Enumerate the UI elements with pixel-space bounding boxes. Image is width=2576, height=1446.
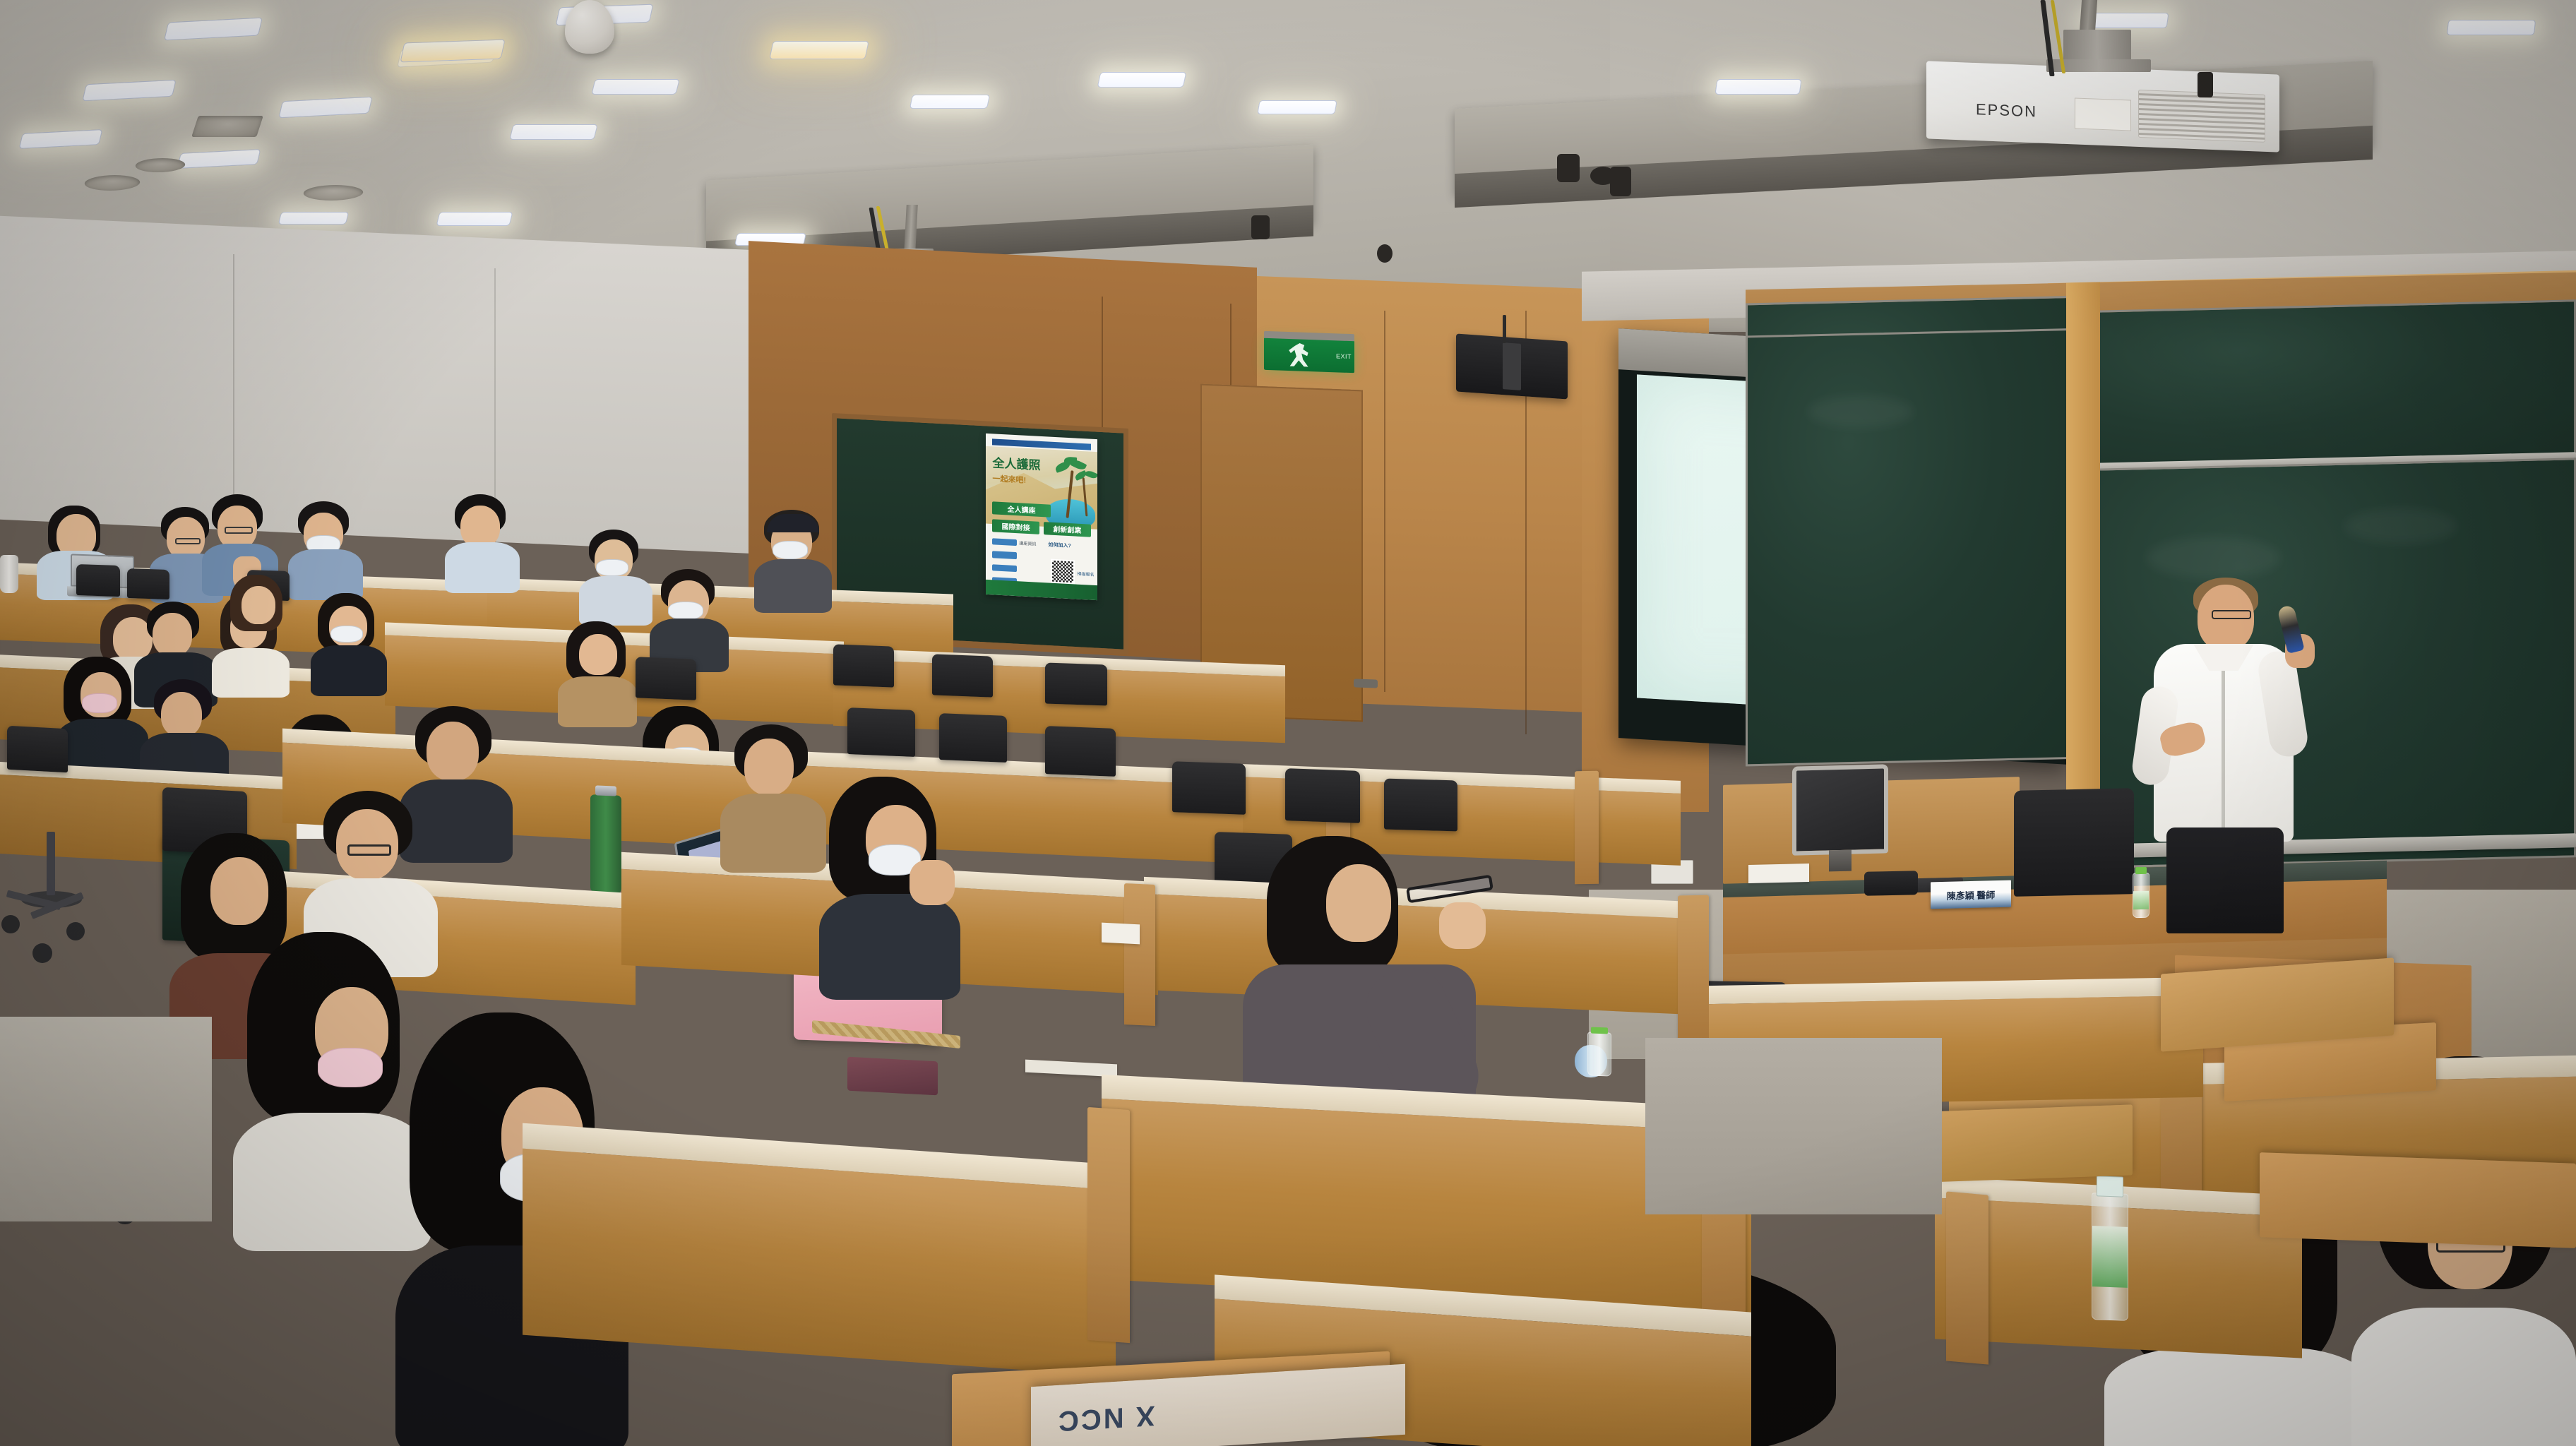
face-mask <box>773 541 808 559</box>
poster-bar-2: 國際對接 <box>992 519 1039 534</box>
wall-speaker <box>1456 333 1568 399</box>
chair-row2[interactable] <box>932 654 993 697</box>
monitor-stand <box>1829 850 1852 872</box>
bottle-label <box>2092 1226 2128 1287</box>
microphone[interactable] <box>2277 604 2304 654</box>
monitor-back-panel <box>1792 764 1888 855</box>
desk-divider <box>1946 1191 1988 1364</box>
ceiling-light <box>591 79 679 95</box>
speaker-cable <box>1503 315 1506 343</box>
student-torso <box>311 645 387 696</box>
desk-divider <box>1575 771 1599 885</box>
bottle-cap <box>1591 1027 1608 1034</box>
bench-end-cap <box>2161 957 2394 1051</box>
student-hand <box>910 860 955 905</box>
student-torso <box>754 559 832 613</box>
qr-code[interactable] <box>1051 559 1075 585</box>
exit-sign-text: EXIT <box>1336 353 1352 360</box>
projector-brand-text: EPSON <box>1976 100 2037 121</box>
student-glasses <box>225 527 253 534</box>
face-mask <box>318 1048 383 1087</box>
chair-back-row[interactable] <box>127 568 169 599</box>
ceiling-light <box>1257 100 1337 114</box>
student-head <box>1326 864 1391 942</box>
poster-side-heading: 如何加入? <box>1048 542 1071 550</box>
student-torso <box>445 542 520 593</box>
student-head <box>427 722 479 781</box>
poster-bar-3: 創新創業 <box>1044 522 1090 537</box>
student-torso <box>579 576 652 626</box>
ceiling-light <box>1715 79 1801 95</box>
chair-back-row[interactable] <box>76 564 120 597</box>
student-head <box>460 506 500 548</box>
student-glasses <box>347 844 391 856</box>
face-mask <box>668 602 703 620</box>
student-center-1 <box>445 494 520 580</box>
projector-spec-label <box>2075 97 2131 131</box>
student-center-2 <box>579 530 652 614</box>
projector-mount-bracket <box>2063 30 2131 62</box>
student-torso <box>558 676 637 727</box>
bottle-on-desk[interactable] <box>1587 1032 1611 1076</box>
student-center-3 <box>650 569 729 658</box>
student-row4-4 <box>819 777 960 967</box>
floor-right-aisle <box>1645 1038 1942 1214</box>
chalkboard-upper-right <box>2093 299 2576 480</box>
running-person-icon <box>1287 342 1311 366</box>
chair-row3[interactable] <box>1172 761 1246 815</box>
desk-divider <box>1087 1107 1130 1343</box>
exit-sign: EXIT <box>1264 337 1354 373</box>
chair-row3[interactable] <box>1045 726 1116 777</box>
podium-equipment-box <box>1864 871 1918 896</box>
chalk-smudge <box>2344 508 2457 544</box>
smoke-detector-icon <box>1377 244 1393 263</box>
presenter-glasses <box>2212 610 2251 619</box>
presenter-shirt-placket <box>2222 652 2225 837</box>
event-poster: 全人護照 一起來吧! 全人講座 國際對接 創新創業 講座資訊 如何加入? 掃描報… <box>986 434 1097 600</box>
student-torso <box>2351 1308 2576 1446</box>
desk-divider <box>1124 883 1155 1026</box>
student-head <box>241 586 275 624</box>
chair-row3[interactable] <box>1285 768 1360 823</box>
face-mask <box>330 626 363 643</box>
projector-epson-right: EPSON <box>1926 61 2279 152</box>
ceiling-vent <box>191 116 263 137</box>
desk-paper <box>1102 923 1140 945</box>
student-head <box>579 634 617 675</box>
chair-row3[interactable] <box>1384 779 1457 832</box>
wallet-pouch[interactable] <box>847 1057 938 1096</box>
chalk-smudge <box>1808 395 1914 428</box>
green-water-bottle[interactable] <box>590 794 621 895</box>
chair-caster <box>66 922 85 940</box>
face-mask <box>596 559 628 576</box>
tumbler-back-row[interactable] <box>0 555 18 593</box>
track-spotlight <box>1251 215 1270 239</box>
student-torso <box>819 894 960 1000</box>
chair-row3[interactable] <box>7 726 68 773</box>
ceiling-hook <box>2198 72 2213 97</box>
poster-subheading: 一起來吧! <box>992 472 1026 485</box>
door-handle[interactable] <box>1354 679 1378 688</box>
poster-heading: 全人護照 <box>992 453 1040 474</box>
student-center-4 <box>754 510 832 602</box>
chair-row2[interactable] <box>1045 662 1107 705</box>
ceiling-light <box>1097 72 1187 88</box>
ceiling-light <box>910 95 990 109</box>
nameplate-text: 陳彥穎 醫師 <box>1947 888 1996 902</box>
ceiling-light <box>436 212 513 226</box>
podium-chair[interactable] <box>2014 788 2134 897</box>
podium-monitor <box>1792 764 1888 872</box>
student-glasses <box>175 538 201 544</box>
wall-speaker-driver <box>1503 342 1520 390</box>
student-head <box>744 739 794 795</box>
poster-qr-caption: 掃描報名 <box>1078 570 1095 578</box>
bench-end-cap <box>2260 1152 2576 1248</box>
chair-caster <box>1 915 20 933</box>
chair-column <box>47 832 55 895</box>
student-hand <box>1439 902 1486 949</box>
chalkboard-divider-post <box>2066 282 2100 868</box>
desk-divider <box>1678 895 1709 1044</box>
floor-left-aisle <box>0 1017 212 1221</box>
tea-bottle[interactable] <box>2092 1193 2128 1321</box>
ceiling-light <box>278 212 349 225</box>
chair-caster <box>32 943 52 963</box>
chair-row2[interactable] <box>833 644 894 687</box>
student-head <box>210 857 268 925</box>
student-row2-6 <box>56 657 148 763</box>
presenter <box>2133 565 2309 932</box>
ceiling-light <box>400 40 505 63</box>
face-mask <box>82 693 117 713</box>
speaker-nameplate: 陳彥穎 醫師 <box>1931 880 2011 909</box>
chalkboard-main-left <box>1746 328 2085 767</box>
student-row2-7 <box>140 679 229 784</box>
track-spotlight <box>1557 154 1580 182</box>
ceiling-light <box>509 124 597 140</box>
baseball-cap <box>767 514 819 532</box>
wall-seam <box>1384 311 1385 692</box>
ceiling-light <box>769 41 869 59</box>
desk-row-front-left <box>523 1123 1116 1377</box>
student-row2-4 <box>225 575 292 658</box>
chair-row3[interactable] <box>847 707 915 757</box>
poster-note-tag <box>992 539 1017 546</box>
track-spotlight <box>1610 167 1631 196</box>
student-back-4 <box>288 501 363 589</box>
wall-white-left <box>0 216 756 554</box>
student-row2-5 <box>311 593 387 685</box>
student-torso <box>720 794 826 873</box>
poster-note-text: 講座資訊 <box>1019 540 1036 547</box>
ceiling-light <box>2447 20 2536 35</box>
chair-row2[interactable] <box>636 657 696 700</box>
student-head <box>161 692 202 737</box>
podium-papers <box>1748 864 1809 883</box>
bottle-cap <box>2097 1176 2123 1197</box>
chair-row3[interactable] <box>939 713 1007 763</box>
student-head <box>153 613 192 657</box>
student-center-5 <box>558 621 637 713</box>
poster-note-tag <box>992 551 1017 559</box>
banner-text: X NCC <box>1056 1399 1155 1437</box>
presenter-trousers <box>2166 827 2284 933</box>
student-row4-5 <box>720 724 826 859</box>
student-torso <box>2104 1347 2373 1446</box>
lecture-hall-photo: EPSON EXIT 非工作人員 禁止進入 STAFF <box>0 0 2576 1446</box>
bottle-cap <box>595 786 616 796</box>
poster-note-tag <box>992 564 1017 572</box>
